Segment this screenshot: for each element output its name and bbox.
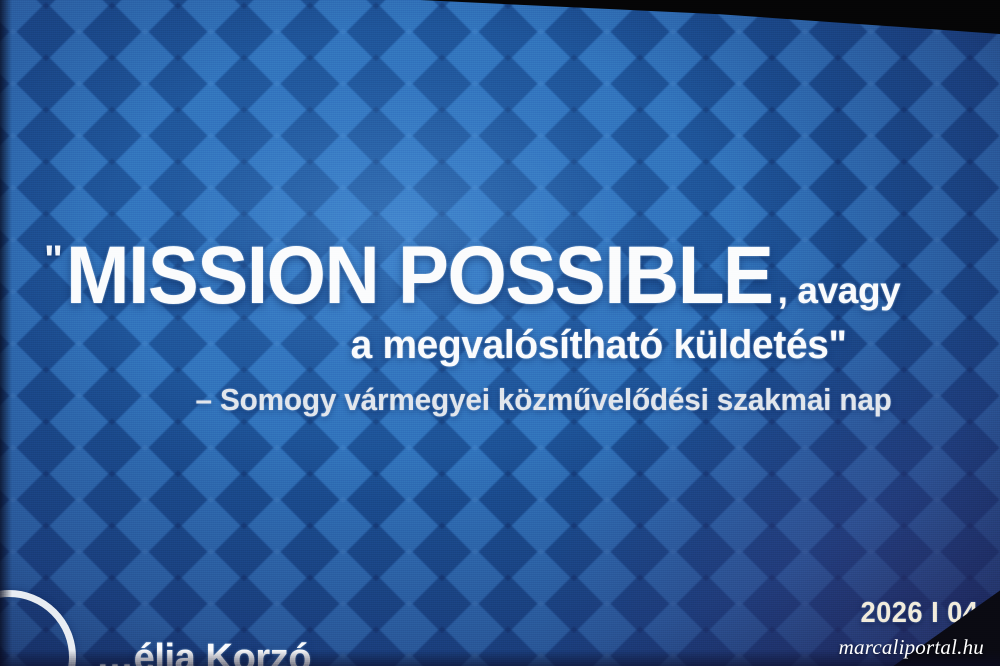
slide-photo: " MISSION POSSIBLE , avagy a megvalósíth… [0, 0, 1000, 666]
title-main-text: MISSION POSSIBLE [66, 238, 773, 313]
headline-block: " MISSION POSSIBLE , avagy a megvalósíth… [44, 238, 974, 418]
site-watermark: marcaliportal.hu [839, 635, 984, 660]
title-second-line-text: a megvalósítható küldetés" [351, 323, 847, 368]
opening-quote-mark: " [44, 242, 62, 279]
date-stamp: 2026 I 04 [860, 597, 978, 630]
slide-content: " MISSION POSSIBLE , avagy a megvalósíth… [0, 0, 1000, 666]
title-line-subtitle: – Somogy vármegyei közművelődési szakmai… [44, 382, 974, 418]
venue-label: …élia Korzó [96, 637, 311, 666]
title-tail-text: , avagy [778, 274, 901, 308]
subtitle-text: – Somogy vármegyei közművelődési szakmai… [196, 382, 892, 418]
title-line-secondary: a megvalósítható küldetés" [44, 323, 974, 368]
circle-logo-icon [0, 590, 76, 666]
title-line-primary: " MISSION POSSIBLE , avagy [44, 238, 974, 313]
